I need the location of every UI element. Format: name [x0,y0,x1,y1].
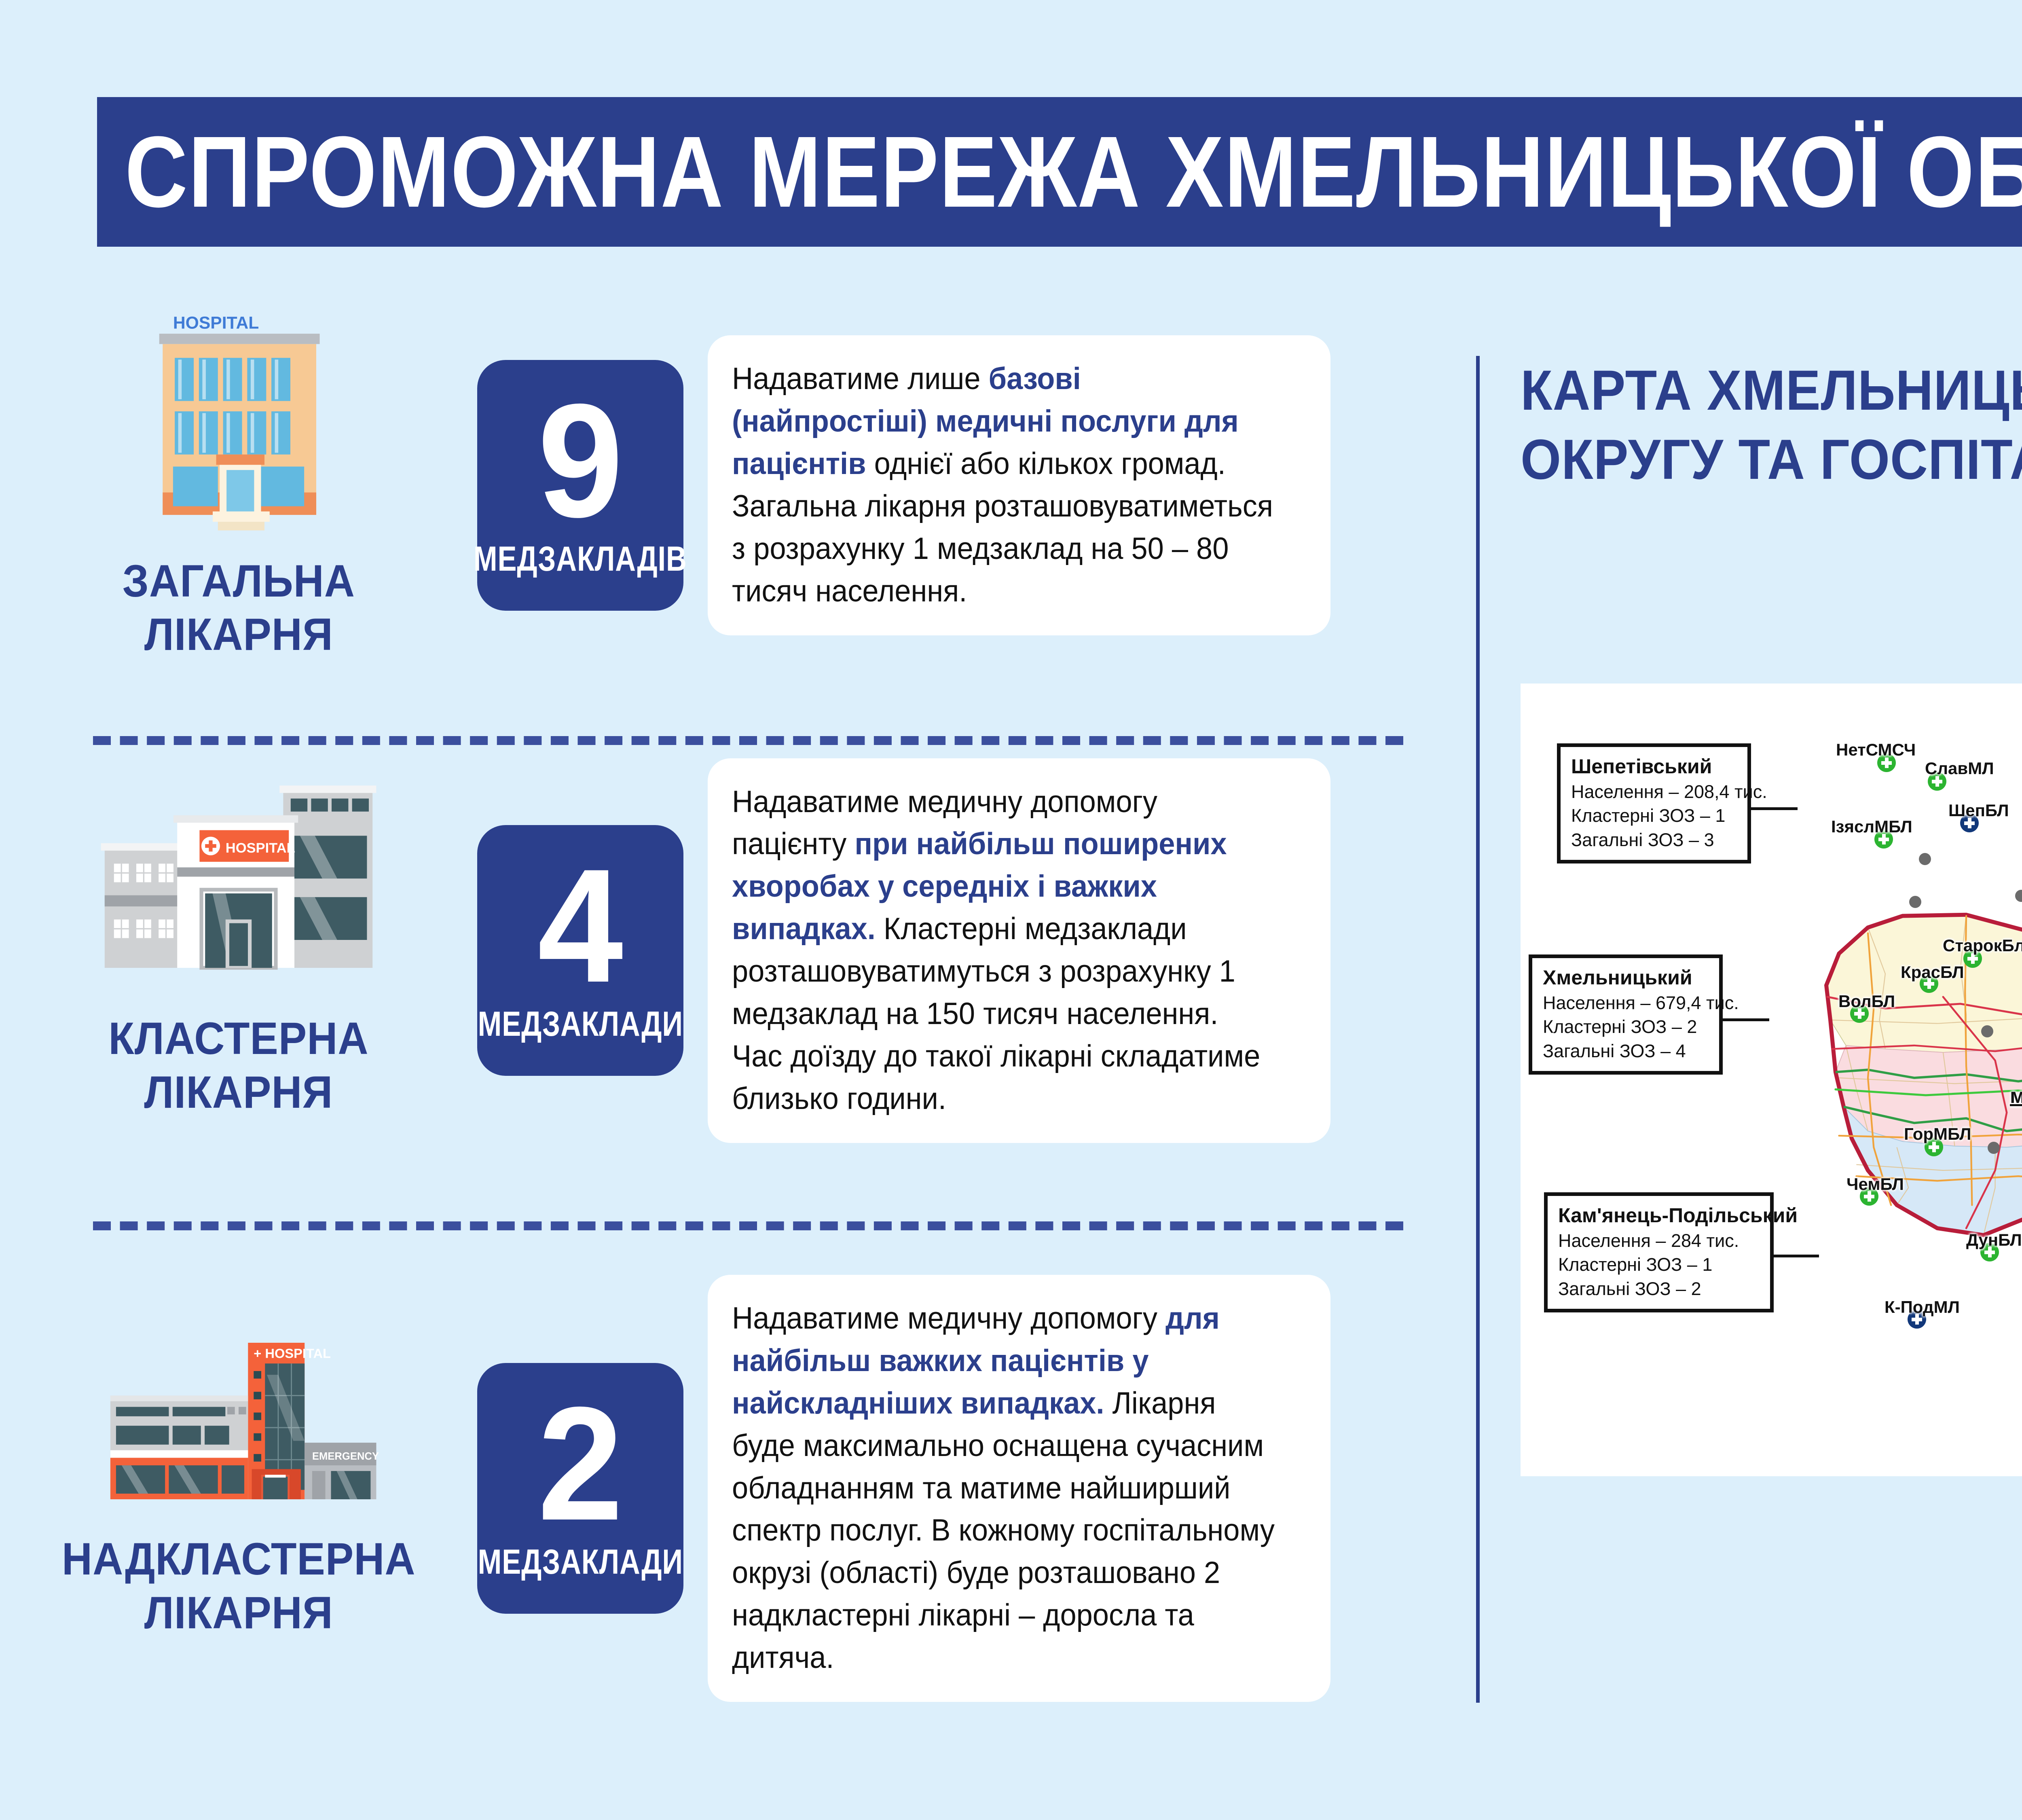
supercluster-hospital-illustration: + HOSPITAL [85,1337,392,1516]
hospital-type-row-general: HOSPITAL [0,344,1464,627]
map-label-izyaslmbl: ІзяслМБЛ [1831,817,1912,836]
map-label-slavml: СлавМЛ [1925,759,1994,778]
page-header: СПРОМОЖНА МЕРЕЖА ХМЕЛЬНИЦЬКОЇ ОБЛАСТІ МІ… [0,0,2022,299]
hospital-type-row-cluster: HOSPITAL КЛАСТЕРНАЛІКАРНЯ 4 МЕДЗАКЛАДИ Н… [0,777,1464,1124]
infobox-khmelnytskyi[interactable]: Хмельницький Населення – 679,4 тис. Клас… [1529,954,1723,1075]
infobox-kamianets-podilskyi[interactable]: Кам'янець-Подільський Населення – 284 ти… [1544,1192,1774,1312]
map-label-volbl: ВолБЛ [1838,992,1895,1011]
supercluster-hospital-count: 2 [537,1389,623,1538]
infobox-kamianets-general: Загальні ЗОЗ – 2 [1558,1277,1761,1301]
map-title-line-2: ОКРУГУ ТА ГОСПІТАЛЬНИХ КЛАСТЕРІВ [1521,425,2022,494]
supercluster-hospital-description: Надаватиме медичну допомогу для найбільш… [732,1297,1276,1679]
leader-line-khmelnytskyi [1721,1018,1769,1021]
general-hospital-illustration: HOSPITAL [85,309,392,538]
map-label-shepbl: ШепБЛ [1948,801,2009,820]
supercluster-hospital-label: НАДКЛАСТЕРНАЛІКАРНЯ [62,1532,416,1639]
map-label-krasbl: КрасБЛ [1901,963,1964,982]
map-label-gormbl: ГорМБЛ [1904,1124,1971,1144]
emergency-sign-text: EMERGENCY [312,1451,379,1462]
hospital-sign-text: + HOSPITAL [254,1346,331,1361]
infobox-shepetivskyi-cluster: Кластерні ЗОЗ – 1 [1571,804,1739,827]
column-divider [1476,356,1480,1703]
title-banner: СПРОМОЖНА МЕРЕЖА ХМЕЛЬНИЦЬКОЇ ОБЛАСТІ [97,97,2022,247]
map-label-starokbl: СтарокБл [1943,936,2022,955]
general-hospital-count-badge: 9 МЕДЗАКЛАДІВ [477,360,683,611]
cluster-hospital-count-badge: 4 МЕДЗАКЛАДИ [477,825,683,1076]
infobox-khmelnytskyi-population: Населення – 679,4 тис. [1543,991,1710,1015]
grey-dot-icon [1909,896,1921,908]
supercluster-hospital-illo-col: + HOSPITAL [0,1337,477,1639]
map-title-line-1: КАРТА ХМЕЛЬНИЦЬКОГО ГОСПІТАЛЬНОГО [1521,356,2022,425]
grey-dot-icon [1981,1025,1993,1037]
general-hospital-description: Надаватиме лише базові (найпростіші) мед… [732,358,1276,612]
infobox-khmelnytskyi-name: Хмельницький [1543,965,1710,991]
infobox-shepetivskyi-name: Шепетівський [1571,753,1739,780]
map-label-kpodml: К-ПодМЛ [1885,1297,1960,1317]
hospital-sign-text: HOSPITAL [226,840,295,856]
infobox-kamianets-cluster: Кластерні ЗОЗ – 1 [1558,1253,1761,1276]
cluster-hospital-illustration: HOSPITAL [85,782,392,996]
map-label-netsmsch: НетСМСЧ [1836,740,1916,760]
map-panel[interactable]: НетСМСЧ СлавМЛ ШепБЛ ІзяслМБЛ СтарокБл К… [1521,684,2022,1476]
hospital-sign-text: HOSPITAL [173,313,259,332]
general-hospital-illo-col: HOSPITAL [0,309,477,661]
general-hospital-description-card: Надаватиме лише базові (найпростіші) мед… [708,335,1330,635]
cluster-hospital-count: 4 [537,851,623,1000]
hospital-type-row-supercluster: + HOSPITAL [0,1262,1464,1715]
map-section-title: КАРТА ХМЕЛЬНИЦЬКОГО ГОСПІТАЛЬНОГО ОКРУГУ… [1521,356,2022,494]
infobox-khmelnytskyi-general: Загальні ЗОЗ – 4 [1543,1039,1710,1063]
page-title: СПРОМОЖНА МЕРЕЖА ХМЕЛЬНИЦЬКОЇ ОБЛАСТІ [97,121,2022,222]
cluster-hospital-description: Надаватиме медичну допомогу пацієнту при… [732,781,1276,1120]
supercluster-hospital-count-unit: МЕДЗАКЛАДИ [478,1542,683,1582]
section-divider-1 [93,736,1403,745]
cluster-hospital-count-unit: МЕДЗАКЛАДИ [478,1004,683,1044]
infobox-shepetivskyi-population: Населення – 208,4 тис. [1571,780,1739,804]
general-hospital-count: 9 [537,386,623,535]
infobox-kamianets-name: Кам'янець-Подільський [1558,1202,1761,1229]
grey-dot-icon [2015,890,2022,902]
cluster-hospital-illo-col: HOSPITAL КЛАСТЕРНАЛІКАРНЯ [0,782,477,1119]
general-hospital-count-unit: МЕДЗАКЛАДІВ [474,539,687,579]
hospital-types-column: HOSPITAL [0,320,1464,1735]
infobox-khmelnytskyi-cluster: Кластерні ЗОЗ – 2 [1543,1015,1710,1039]
cluster-hospital-description-card: Надаватиме медичну допомогу пацієнту при… [708,758,1330,1143]
map-label-chembl: ЧемБЛ [1846,1175,1904,1194]
map-label-dunbl: ДунБЛ [1966,1230,2022,1250]
general-hospital-label: ЗАГАЛЬНАЛІКАРНЯ [122,554,355,661]
grey-dot-icon [1919,853,1931,865]
cluster-hospital-label: КЛАСТЕРНАЛІКАРНЯ [108,1012,368,1119]
map-label-khmelnytskyi-city: м. Хмельницький [2010,1084,2022,1108]
leader-line-shepetivskyi [1749,807,1798,810]
map-column: КАРТА ХМЕЛЬНИЦЬКОГО ГОСПІТАЛЬНОГО ОКРУГУ… [1521,356,2022,1731]
leader-line-kamianets [1770,1255,1819,1257]
infobox-kamianets-population: Населення – 284 тис. [1558,1229,1761,1253]
section-divider-2 [93,1221,1403,1230]
infobox-shepetivskyi[interactable]: Шепетівський Населення – 208,4 тис. Клас… [1557,743,1751,863]
supercluster-hospital-count-badge: 2 МЕДЗАКЛАДИ [477,1363,683,1614]
infobox-shepetivskyi-general: Загальні ЗОЗ – 3 [1571,828,1739,852]
grey-dot-icon [1988,1142,2000,1154]
supercluster-hospital-description-card: Надаватиме медичну допомогу для найбільш… [708,1275,1330,1702]
